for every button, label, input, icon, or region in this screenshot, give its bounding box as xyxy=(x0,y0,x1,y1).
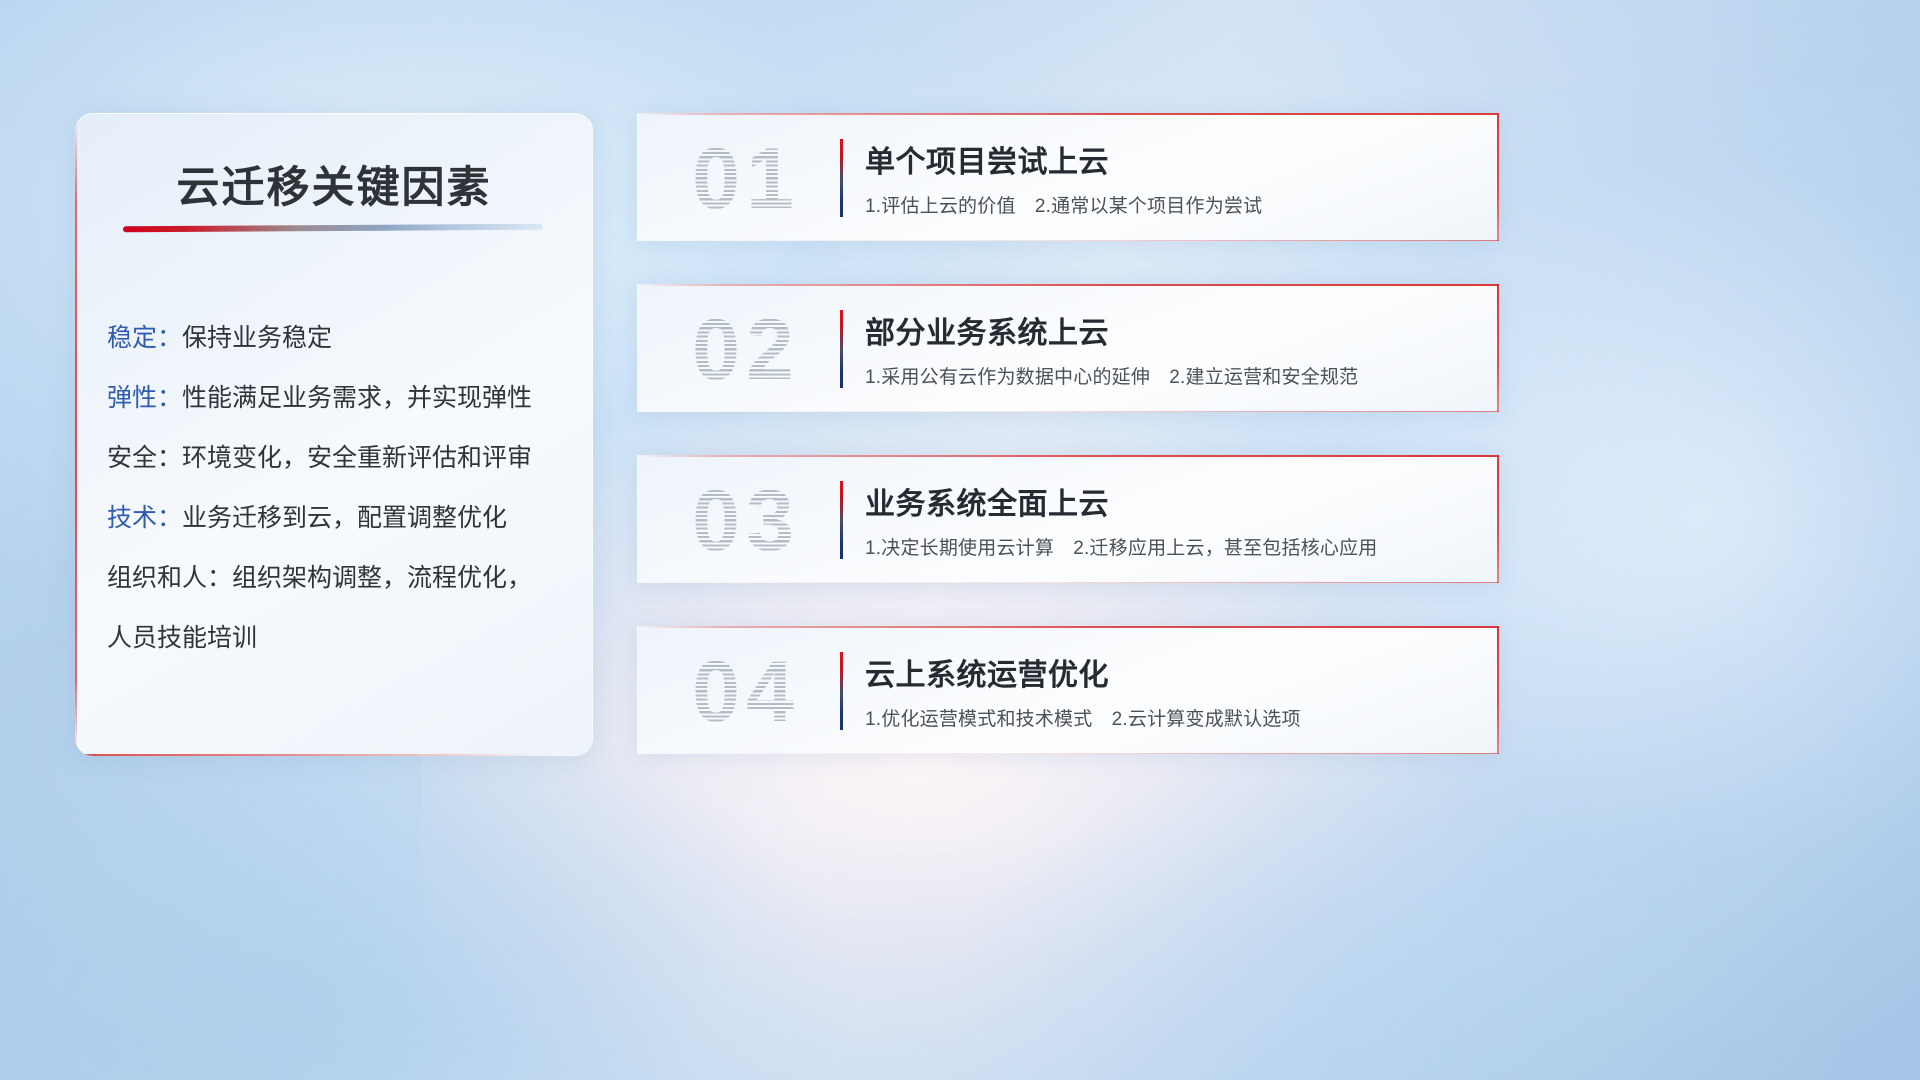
card-number-text: 02 xyxy=(692,302,800,398)
card-left-highlight xyxy=(637,455,638,583)
card-subtitle: 1.优化运营模式和技术模式 2.云计算变成默认选项 xyxy=(865,704,1301,731)
factor-description: 环境变化，安全重新评估和评审 xyxy=(182,444,532,472)
card-top-red-border xyxy=(637,284,1499,286)
factor-row: 技术：业务迁移到云，配置调整优化 xyxy=(107,488,569,548)
card-right-red-border xyxy=(1497,455,1499,583)
card-title: 云上系统运营优化 xyxy=(865,650,1109,694)
card-bottom-red-border xyxy=(637,753,1499,754)
card-bottom-red-border xyxy=(637,411,1499,412)
stage-card[interactable]: 02部分业务系统上云1.采用公有云作为数据中心的延伸 2.建立运营和安全规范 xyxy=(637,284,1499,412)
factor-row: 组织和人：组织架构调整，流程优化， xyxy=(107,548,569,608)
factor-description: 性能满足业务需求，并实现弹性 xyxy=(182,384,532,412)
factor-label: 组织和人： xyxy=(107,564,232,592)
card-number-watermark: 02 xyxy=(657,298,835,402)
stage-card[interactable]: 01单个项目尝试上云1.评估上云的价值 2.通常以某个项目作为尝试 xyxy=(637,113,1499,241)
card-number-text: 03 xyxy=(692,473,800,569)
card-left-highlight xyxy=(637,284,638,412)
card-subtitle: 1.决定长期使用云计算 2.迁移应用上云，甚至包括核心应用 xyxy=(865,533,1378,560)
factor-description: 业务迁移到云，配置调整优化 xyxy=(182,504,507,532)
factor-row: 稳定：保持业务稳定 xyxy=(107,308,569,368)
card-top-red-border xyxy=(637,113,1499,115)
factor-label: 稳定： xyxy=(107,324,182,352)
panel-bottom-red-accent xyxy=(75,754,593,756)
factor-row: 安全：环境变化，安全重新评估和评审 xyxy=(107,428,569,488)
panel-top-highlight xyxy=(75,113,593,114)
factor-description: 保持业务稳定 xyxy=(182,324,332,352)
card-title: 单个项目尝试上云 xyxy=(865,137,1109,181)
card-divider-bar xyxy=(840,139,843,217)
title-gradient-underline xyxy=(123,224,543,233)
card-right-red-border xyxy=(1497,626,1499,754)
stage-card[interactable]: 03业务系统全面上云1.决定长期使用云计算 2.迁移应用上云，甚至包括核心应用 xyxy=(637,455,1499,583)
card-number-text: 04 xyxy=(692,644,800,740)
card-left-highlight xyxy=(637,626,638,754)
card-title: 业务系统全面上云 xyxy=(865,479,1109,523)
card-top-red-border xyxy=(637,455,1499,457)
factor-list: 稳定：保持业务稳定弹性：性能满足业务需求，并实现弹性安全：环境变化，安全重新评估… xyxy=(107,308,569,668)
card-top-red-border xyxy=(637,626,1499,628)
card-bottom-red-border xyxy=(637,240,1499,241)
card-right-red-border xyxy=(1497,284,1499,412)
factor-row: 弹性：性能满足业务需求，并实现弹性 xyxy=(107,368,569,428)
factor-label: 技术： xyxy=(107,504,182,532)
card-bottom-red-border xyxy=(637,582,1499,583)
stage-card-list: 01单个项目尝试上云1.评估上云的价值 2.通常以某个项目作为尝试02部分业务系… xyxy=(637,113,1499,754)
card-number-watermark: 03 xyxy=(657,469,835,573)
factor-description: 组织架构调整，流程优化， xyxy=(232,564,532,592)
card-divider-bar xyxy=(840,481,843,559)
factor-label: 安全： xyxy=(107,444,182,472)
stage-card[interactable]: 04云上系统运营优化1.优化运营模式和技术模式 2.云计算变成默认选项 xyxy=(637,626,1499,754)
card-number-watermark: 01 xyxy=(657,127,835,231)
card-number-text: 01 xyxy=(692,131,800,227)
card-number-watermark: 04 xyxy=(657,640,835,744)
factor-label: 弹性： xyxy=(107,384,182,412)
card-right-red-border xyxy=(1497,113,1499,241)
card-left-highlight xyxy=(637,113,638,241)
factor-continuation: 人员技能培训 xyxy=(107,608,569,668)
card-subtitle: 1.评估上云的价值 2.通常以某个项目作为尝试 xyxy=(865,191,1262,218)
page-title: 云迁移关键因素 xyxy=(75,153,593,215)
card-divider-bar xyxy=(840,652,843,730)
card-title: 部分业务系统上云 xyxy=(865,308,1109,352)
card-divider-bar xyxy=(840,310,843,388)
key-factors-panel: 云迁移关键因素 稳定：保持业务稳定弹性：性能满足业务需求，并实现弹性安全：环境变… xyxy=(75,113,593,756)
card-subtitle: 1.采用公有云作为数据中心的延伸 2.建立运营和安全规范 xyxy=(865,362,1358,389)
